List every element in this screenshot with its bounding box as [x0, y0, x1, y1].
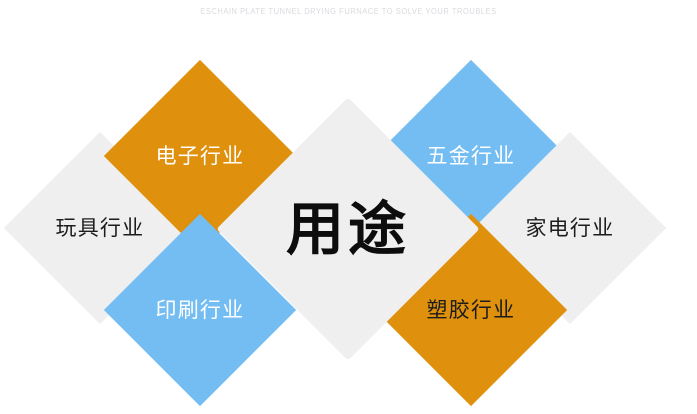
- petal-electronics-label: 电子行业: [156, 146, 245, 167]
- petal-home-appliance-label: 家电行业: [526, 218, 615, 239]
- petal-toys-label: 玩具行业: [56, 218, 145, 239]
- petal-plastics-label: 塑胶行业: [427, 300, 516, 321]
- header-band: ESCHAIN PLATE TUNNEL DRYING FURNACE TO S…: [0, 0, 697, 22]
- petal-printing-label: 印刷行业: [156, 300, 245, 321]
- uses-diagram-canvas: ESCHAIN PLATE TUNNEL DRYING FURNACE TO S…: [0, 0, 697, 414]
- center-label: 用途: [286, 200, 410, 258]
- header-tagline: ESCHAIN PLATE TUNNEL DRYING FURNACE TO S…: [200, 6, 496, 15]
- petal-hardware-label: 五金行业: [427, 146, 516, 167]
